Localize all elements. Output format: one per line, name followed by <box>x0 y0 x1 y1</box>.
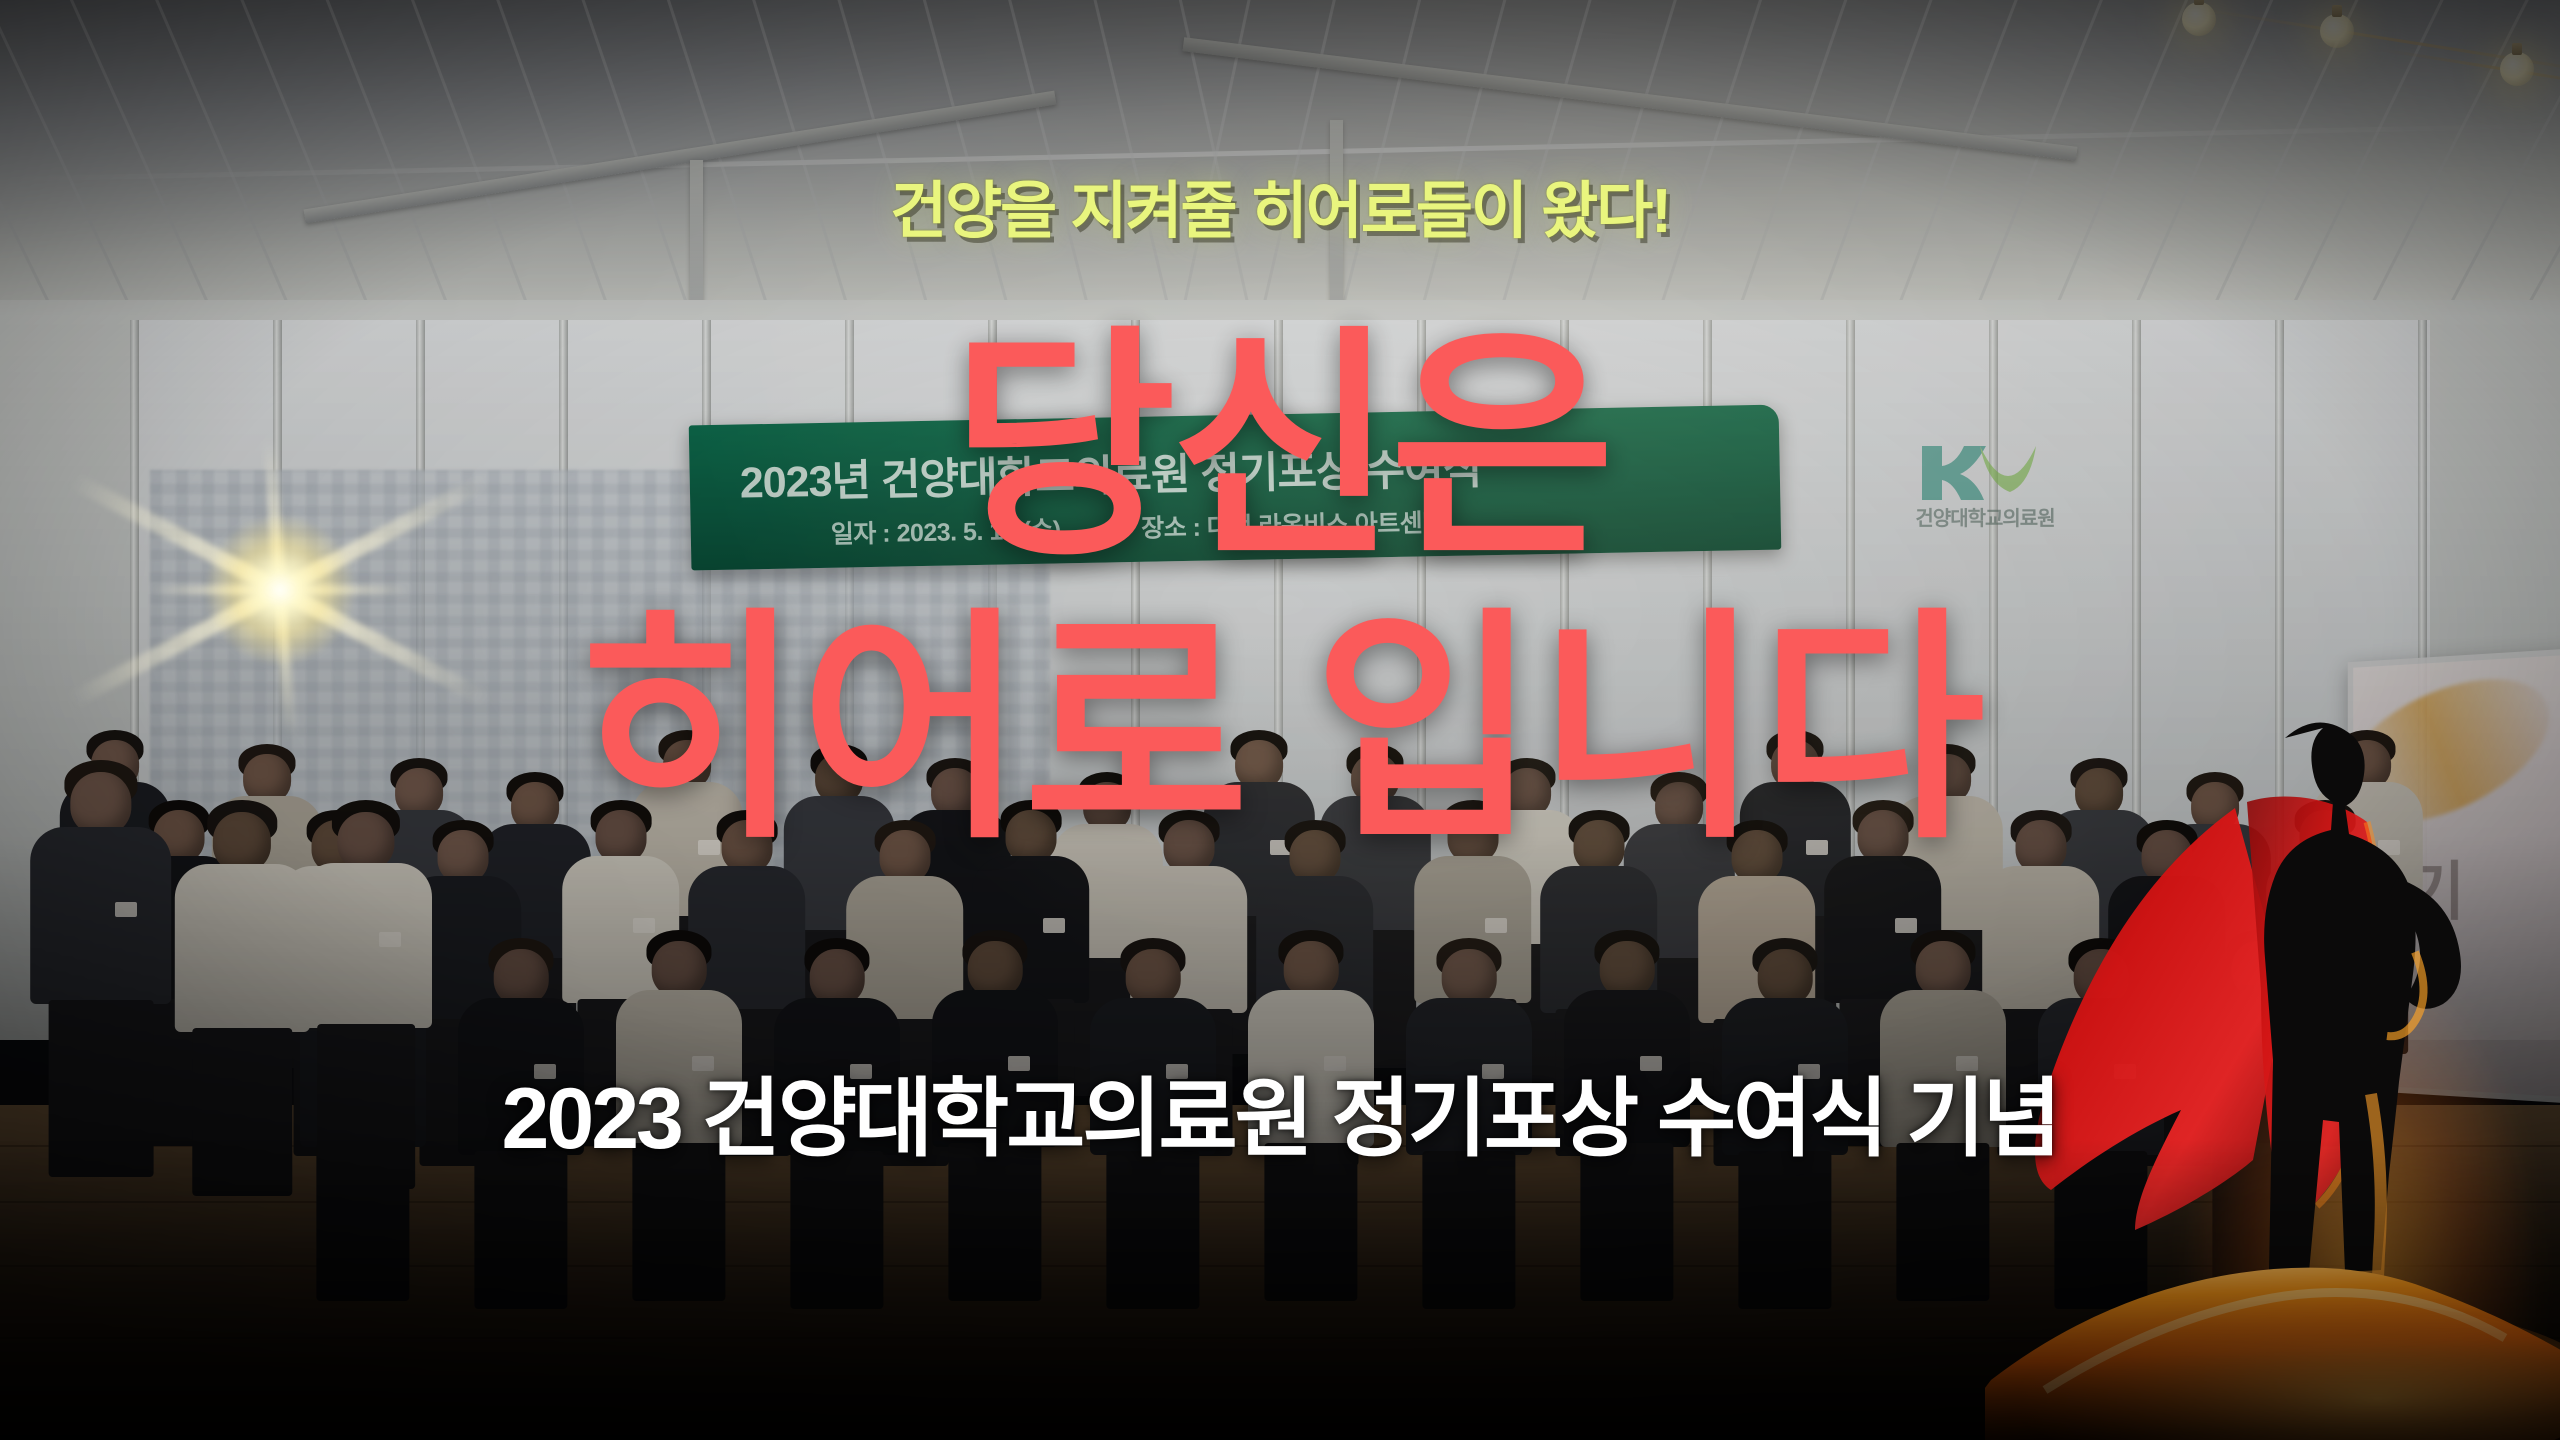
kicker-text: 건양을 지켜줄 히어로들이 왔다! <box>0 160 2560 250</box>
person-head <box>494 949 549 1005</box>
light-bulb <box>2500 52 2534 86</box>
person-legs <box>1106 1151 1199 1309</box>
person-head <box>1758 949 1813 1005</box>
light-bulb <box>2320 14 2354 48</box>
person-legs <box>1738 1151 1831 1309</box>
name-badge <box>2337 918 2359 933</box>
person-body <box>175 864 309 1032</box>
person-body <box>30 827 172 1004</box>
person-head <box>968 941 1023 997</box>
person-head <box>652 941 707 997</box>
headline-line-2: 히어로 입니다 <box>0 612 2560 847</box>
person-head <box>1442 949 1497 1005</box>
name-badge <box>1485 918 1507 933</box>
person-head <box>1284 941 1339 997</box>
person-legs <box>2054 1151 2147 1309</box>
person-head <box>1600 941 1655 997</box>
person-legs <box>1422 1151 1515 1309</box>
poster-canvas: 2023년 건양대학교의료원 정기포상 수여식 일자 : 2023. 5. 10… <box>0 0 2560 1440</box>
light-bulb <box>2182 2 2216 36</box>
caption-text: 2023 건양대학교의료원 정기포상 수여식 기념 <box>0 1048 2560 1173</box>
name-badge <box>379 932 401 947</box>
person-body <box>300 863 432 1028</box>
person-head <box>2232 941 2287 997</box>
person-head <box>2074 949 2129 1005</box>
person-legs <box>474 1151 567 1309</box>
person-head <box>1126 949 1181 1005</box>
person-head <box>1916 941 1971 997</box>
headline-line-1: 당신은 <box>0 330 2560 565</box>
person-head <box>810 949 865 1005</box>
person-legs <box>790 1151 883 1309</box>
name-badge <box>115 902 137 917</box>
